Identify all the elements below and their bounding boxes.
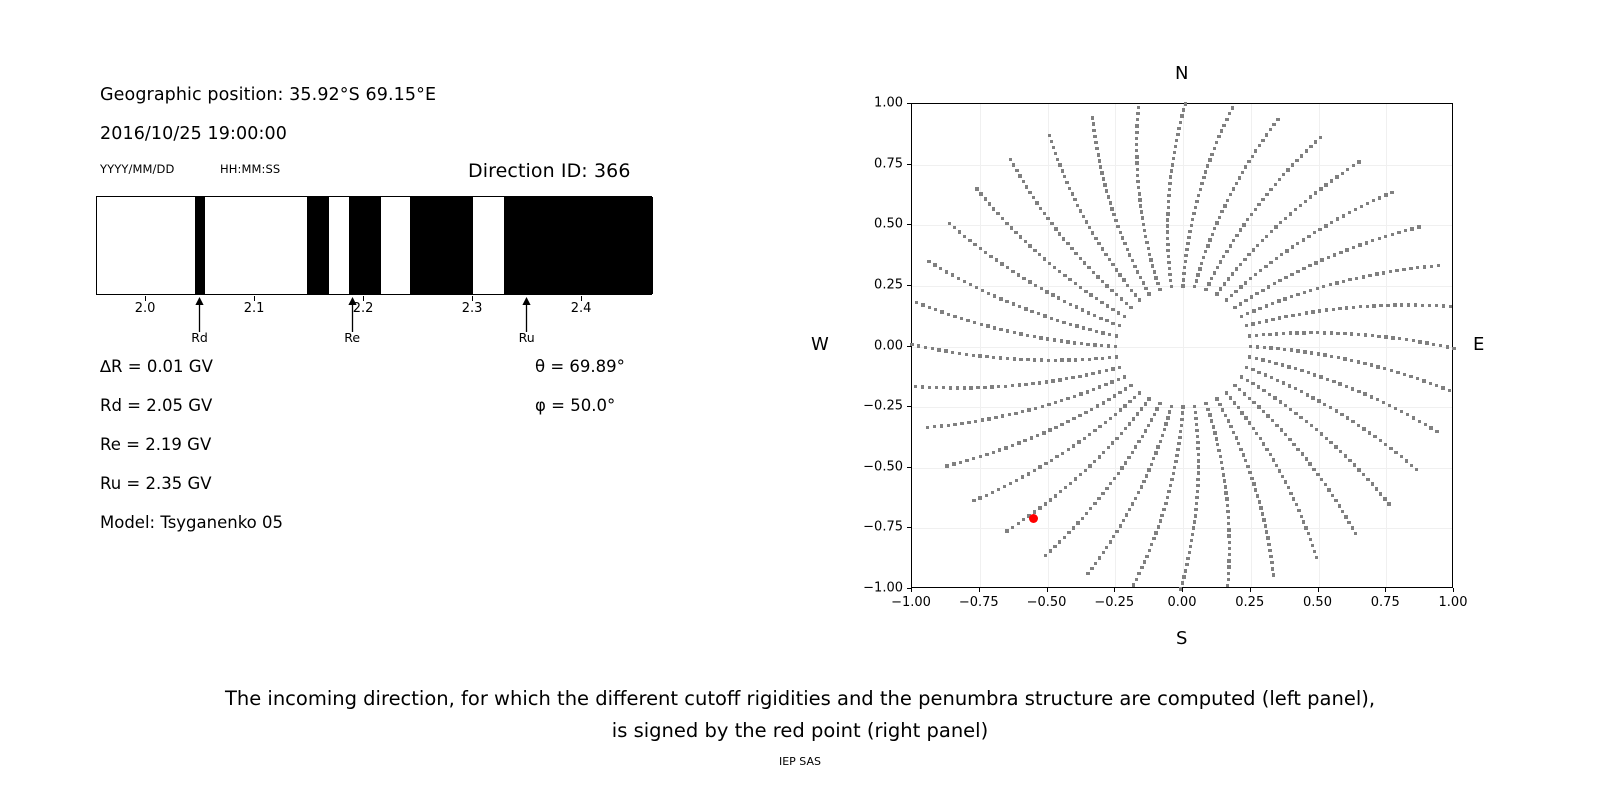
direction-dot <box>1296 270 1299 273</box>
direction-dot <box>976 386 979 389</box>
direction-dot <box>1169 484 1172 487</box>
direction-dot <box>1136 118 1139 121</box>
direction-dot <box>1123 404 1126 407</box>
direction-dot <box>1271 419 1274 422</box>
direction-dot <box>1087 311 1090 314</box>
direction-dot <box>1169 279 1172 282</box>
direction-dot <box>1335 409 1338 412</box>
direction-dot <box>1274 362 1277 365</box>
direction-dot <box>1370 395 1373 398</box>
direction-dot <box>1072 417 1075 420</box>
direction-dot <box>1054 401 1057 404</box>
direction-dot <box>1240 411 1243 414</box>
direction-dot <box>1102 451 1105 454</box>
direction-dot <box>1118 324 1121 327</box>
direction-dot <box>1095 297 1098 300</box>
direction-dot <box>1251 368 1254 371</box>
direction-dot <box>1156 445 1159 448</box>
direction-dot <box>1352 306 1355 309</box>
y-axis-tick-label: −1.00 <box>849 581 903 596</box>
direction-dot <box>1117 311 1120 314</box>
direction-dot <box>1123 242 1126 245</box>
direction-dot <box>1215 437 1218 440</box>
direction-dot <box>1376 365 1379 368</box>
direction-dot <box>1215 141 1218 144</box>
direction-dot <box>1082 326 1085 329</box>
direction-dot <box>1264 265 1267 268</box>
direction-dot <box>1088 328 1091 331</box>
direction-dot <box>1279 400 1282 403</box>
direction-dot <box>1210 277 1213 280</box>
direction-dot <box>1292 443 1295 446</box>
direction-dot <box>1226 584 1229 587</box>
direction-dot <box>1370 363 1373 366</box>
direction-dot <box>1113 394 1116 397</box>
direction-dot <box>1084 411 1087 414</box>
direction-dot <box>1322 285 1325 288</box>
direction-dot <box>1275 332 1278 335</box>
y-axis-tick <box>907 103 911 104</box>
direction-dot <box>965 353 968 356</box>
direction-dot <box>1218 216 1221 219</box>
direction-dot <box>1300 154 1303 157</box>
direction-dot <box>1181 581 1184 584</box>
direction-dot <box>1252 309 1255 312</box>
direction-dot <box>1150 418 1153 421</box>
direction-dot <box>1274 225 1277 228</box>
direction-dot <box>1316 473 1319 476</box>
direction-dot <box>1159 440 1162 443</box>
direction-dot <box>1107 446 1110 449</box>
direction-dot <box>1221 408 1224 411</box>
y-axis-tick-label: 1.00 <box>849 96 903 111</box>
direction-dot <box>1078 375 1081 378</box>
direction-dot <box>1224 485 1227 488</box>
direction-dot <box>1230 294 1233 297</box>
direction-dot <box>1096 275 1099 278</box>
direction-dot <box>1090 408 1093 411</box>
direction-dot <box>1167 261 1170 264</box>
direction-dot <box>1072 444 1075 447</box>
direction-dot <box>1246 379 1249 382</box>
direction-dot <box>1037 312 1040 315</box>
direction-dot <box>1320 478 1323 481</box>
direction-dot <box>1332 308 1335 311</box>
sky-map-panel: N S W E −1.00−0.75−0.50−0.250.000.250.50… <box>780 40 1540 660</box>
direction-dot <box>1348 278 1351 281</box>
direction-dot <box>1018 174 1021 177</box>
x-axis-tick-label: 0.25 <box>1235 595 1264 610</box>
rigidity-marker-re: Re <box>332 296 372 345</box>
direction-dot <box>1155 407 1158 410</box>
datetime-label: 2016/10/25 19:00:00 <box>100 124 287 144</box>
direction-dot <box>1017 522 1020 525</box>
direction-dot <box>972 499 975 502</box>
direction-dot <box>1183 266 1186 269</box>
direction-dot <box>1166 230 1169 233</box>
direction-dot <box>1428 304 1431 307</box>
direction-dot <box>1302 267 1305 270</box>
direction-dot <box>1261 289 1264 292</box>
direction-dot <box>1128 400 1131 403</box>
direction-dot <box>1386 304 1389 307</box>
direction-dot <box>921 303 924 306</box>
direction-dot <box>1111 308 1114 311</box>
direction-dot <box>1350 332 1353 335</box>
direction-dot <box>1313 231 1316 234</box>
direction-dot <box>1407 303 1410 306</box>
direction-dot <box>1064 486 1067 489</box>
direction-dot <box>1083 437 1086 440</box>
penumbra-axis: 2.02.12.22.32.4RdReRu <box>96 296 652 356</box>
direction-dot <box>1101 492 1104 495</box>
direction-dot <box>1319 375 1322 378</box>
direction-dot <box>1266 414 1269 417</box>
direction-dot <box>1371 239 1374 242</box>
x-axis-tick-label: 0.75 <box>1371 595 1400 610</box>
direction-dot <box>1100 301 1103 304</box>
direction-dot <box>1251 155 1254 158</box>
direction-dot <box>1039 207 1042 210</box>
direction-dot <box>1005 222 1008 225</box>
direction-dot <box>1219 260 1222 263</box>
direction-dot <box>1169 175 1172 178</box>
direction-dot <box>1417 225 1420 228</box>
direction-dot <box>1239 285 1242 288</box>
direction-dot <box>1238 176 1241 179</box>
direction-dot <box>1248 471 1251 474</box>
direction-dot <box>1019 358 1022 361</box>
direction-dot <box>940 310 943 313</box>
direction-dot <box>1184 254 1187 257</box>
direction-dot <box>1204 288 1207 291</box>
direction-dot <box>928 386 931 389</box>
direction-dot <box>1372 199 1375 202</box>
direction-dot <box>990 385 993 388</box>
direction-dot <box>985 453 988 456</box>
direction-dot <box>1202 256 1205 259</box>
direction-dot <box>1365 241 1368 244</box>
direction-dot <box>1300 515 1303 518</box>
y-axis-tick-label: −0.25 <box>849 399 903 414</box>
direction-dot <box>1030 436 1033 439</box>
direction-dot <box>1248 397 1251 400</box>
direction-dot <box>1153 413 1156 416</box>
direction-dot <box>1097 242 1100 245</box>
direction-dot <box>1323 331 1326 334</box>
x-axis-tick <box>1114 588 1115 592</box>
direction-dot <box>1232 431 1235 434</box>
direction-dot <box>1269 453 1272 456</box>
direction-dot <box>1296 242 1299 245</box>
direction-dot <box>1094 562 1097 565</box>
direction-dot <box>1019 235 1022 238</box>
direction-dot <box>1182 575 1185 578</box>
direction-dot <box>1390 191 1393 194</box>
direction-dot <box>1093 314 1096 317</box>
direction-dot <box>1333 253 1336 256</box>
direction-dot <box>1228 112 1231 115</box>
direction-dot <box>1308 462 1311 465</box>
direction-dot <box>1156 282 1159 285</box>
direction-dot <box>1101 331 1104 334</box>
direction-dot <box>1157 525 1160 528</box>
direction-dot <box>1168 182 1171 185</box>
compass-label-east: E <box>1473 334 1484 355</box>
direction-dot <box>1106 304 1109 307</box>
direction-dot <box>1005 529 1008 532</box>
direction-dot <box>1398 337 1401 340</box>
direction-dot <box>1202 176 1205 179</box>
direction-dot <box>1135 155 1138 158</box>
direction-dot <box>1182 272 1185 275</box>
direction-dot <box>1075 305 1078 308</box>
direction-dot <box>1063 536 1066 539</box>
direction-dot <box>975 286 978 289</box>
direction-dot <box>1063 175 1066 178</box>
direction-dot <box>1256 494 1259 497</box>
direction-dot <box>1305 149 1308 152</box>
direction-dot <box>1193 285 1196 288</box>
direction-dot <box>1145 474 1148 477</box>
direction-dot <box>995 258 998 261</box>
direction-dot <box>975 187 978 190</box>
direction-dot <box>1148 253 1151 256</box>
direction-dot <box>994 416 997 419</box>
direction-dot <box>1219 455 1222 458</box>
direction-dot <box>1416 266 1419 269</box>
direction-dot <box>1287 486 1290 489</box>
direction-dot <box>1038 253 1041 256</box>
direction-dot <box>1038 465 1041 468</box>
direction-dot <box>1166 237 1169 240</box>
geographic-position-label: Geographic position: 35.92°S 69.15°E <box>100 85 436 105</box>
direction-dot <box>1391 336 1394 339</box>
direction-dot <box>1325 437 1328 440</box>
direction-dot <box>1395 269 1398 272</box>
angle-parameter-row: θ = 69.89° <box>535 357 625 376</box>
selected-direction-marker[interactable] <box>1029 514 1038 523</box>
direction-dot <box>1342 280 1345 283</box>
direction-dot <box>1206 164 1209 167</box>
direction-dot <box>1181 411 1184 414</box>
direction-dot <box>1216 443 1219 446</box>
direction-dot <box>1093 429 1096 432</box>
direction-dot <box>1229 425 1232 428</box>
direction-dot <box>1283 348 1286 351</box>
direction-dot <box>999 328 1002 331</box>
direction-dot <box>1286 168 1289 171</box>
direction-dot <box>997 385 1000 388</box>
direction-dot <box>1095 330 1098 333</box>
direction-dot <box>1046 337 1049 340</box>
direction-dot <box>1019 332 1022 335</box>
direction-dot <box>1196 484 1199 487</box>
direction-dot <box>1074 252 1077 255</box>
direction-dot <box>1166 496 1169 499</box>
direction-dot <box>1384 193 1387 196</box>
direction-dot <box>1098 370 1101 373</box>
direction-dot <box>1292 497 1295 500</box>
direction-dot <box>984 197 987 200</box>
direction-dot <box>1229 244 1232 247</box>
direction-dot <box>1400 303 1403 306</box>
direction-dot <box>1227 522 1230 525</box>
direction-dot <box>1133 396 1136 399</box>
direction-dot <box>1409 375 1412 378</box>
direction-dot <box>1269 346 1272 349</box>
direction-dot <box>1354 208 1357 211</box>
direction-dot <box>1105 284 1108 287</box>
direction-dot <box>1375 487 1378 490</box>
direction-dot <box>1304 200 1307 203</box>
direction-dot <box>1141 216 1144 219</box>
direction-dot <box>1089 507 1092 510</box>
direction-dot <box>1152 457 1155 460</box>
direction-dot <box>1196 441 1199 444</box>
direction-dot <box>1101 247 1104 250</box>
left-panel: Geographic position: 35.92°S 69.15°E 201… <box>0 0 720 620</box>
direction-dot <box>1112 213 1115 216</box>
direction-dot <box>1394 451 1397 454</box>
direction-dot <box>965 459 968 462</box>
direction-dot <box>1074 282 1077 285</box>
direction-dot <box>1373 435 1376 438</box>
direction-dot <box>1012 302 1015 305</box>
direction-dot <box>1062 237 1065 240</box>
y-axis-tick <box>907 164 911 165</box>
direction-dot <box>1329 283 1332 286</box>
direction-dot <box>963 235 966 238</box>
direction-dot <box>1144 402 1147 405</box>
direction-dot <box>1177 442 1180 445</box>
direction-dot <box>1324 224 1327 227</box>
direction-dot <box>981 418 984 421</box>
direction-dot <box>1294 208 1297 211</box>
direction-dot <box>1254 488 1257 491</box>
direction-dot <box>1140 407 1143 410</box>
direction-dot <box>1225 497 1228 500</box>
direction-dot <box>1446 345 1449 348</box>
direction-dot <box>1170 478 1173 481</box>
direction-dot <box>1193 405 1196 408</box>
direction-dot <box>939 267 942 270</box>
gridline-vertical <box>980 104 981 587</box>
direction-dot <box>1357 468 1360 471</box>
direction-dot <box>1119 524 1122 527</box>
direction-dot <box>1229 396 1232 399</box>
direction-dot <box>1267 285 1270 288</box>
direction-dot <box>1276 118 1279 121</box>
parameter-row: Model: Tsyganenko 05 <box>100 513 283 532</box>
direction-dot <box>1014 412 1017 415</box>
direction-dot <box>949 386 952 389</box>
direction-dot <box>1138 391 1141 394</box>
direction-dot <box>1326 378 1329 381</box>
direction-dot <box>993 326 996 329</box>
direction-dot <box>960 422 963 425</box>
direction-dot <box>1052 146 1055 149</box>
direction-dot <box>1258 307 1261 310</box>
direction-dot <box>1366 478 1369 481</box>
direction-dot <box>1307 371 1310 374</box>
direction-dot <box>989 255 992 258</box>
direction-dot <box>1163 428 1166 431</box>
direction-dot <box>1251 322 1254 325</box>
direction-dot <box>1252 248 1255 251</box>
direction-dot <box>1219 287 1222 290</box>
direction-dot <box>1348 459 1351 462</box>
x-axis-tick-label: 0.50 <box>1303 595 1332 610</box>
direction-dot <box>1270 230 1273 233</box>
direction-dot <box>999 297 1002 300</box>
direction-dot <box>953 315 956 318</box>
direction-dot <box>1184 102 1187 105</box>
direction-dot <box>1180 424 1183 427</box>
direction-dot <box>1072 526 1075 529</box>
direction-dot <box>1060 358 1063 361</box>
direction-dot <box>1223 204 1226 207</box>
direction-dot <box>937 348 940 351</box>
direction-dot <box>1130 289 1133 292</box>
direction-dot <box>1250 477 1253 480</box>
direction-dot <box>1271 302 1274 305</box>
direction-dot <box>1291 245 1294 248</box>
direction-dot <box>1416 377 1419 380</box>
axis-tick-label: 2.0 <box>135 301 156 316</box>
direction-dot <box>1128 253 1131 256</box>
direction-dot <box>999 356 1002 359</box>
direction-dot <box>978 354 981 357</box>
direction-dot <box>1342 214 1345 217</box>
direction-dot <box>1168 267 1171 270</box>
direction-dot <box>1195 429 1198 432</box>
direction-dot <box>1449 305 1452 308</box>
direction-dot <box>1354 532 1357 535</box>
direction-dot <box>1000 262 1003 265</box>
direction-dot <box>1115 334 1118 337</box>
direction-dot <box>1264 524 1267 527</box>
direction-dot <box>1339 450 1342 453</box>
direction-dot <box>1400 410 1403 413</box>
direction-dot <box>1054 494 1057 497</box>
direction-dot <box>1439 344 1442 347</box>
direction-dot <box>1324 483 1327 486</box>
direction-dot <box>1142 281 1145 284</box>
direction-dot <box>1184 569 1187 572</box>
direction-dot <box>1273 282 1276 285</box>
direction-dot <box>985 355 988 358</box>
direction-dot <box>1073 341 1076 344</box>
direction-dot <box>1117 472 1120 475</box>
x-axis-tick <box>979 588 980 592</box>
direction-dot <box>1366 202 1369 205</box>
direction-dot <box>1048 134 1051 137</box>
direction-dot <box>1111 322 1114 325</box>
direction-dot <box>1197 471 1200 474</box>
direction-dot <box>1215 292 1218 295</box>
direction-dot <box>987 417 990 420</box>
direction-dot <box>1068 187 1071 190</box>
direction-dot <box>1222 473 1225 476</box>
direction-dot <box>1278 469 1281 472</box>
direction-dot <box>1244 281 1247 284</box>
direction-dot <box>1051 379 1054 382</box>
direction-dot <box>1015 479 1018 482</box>
direction-dot <box>1115 437 1118 440</box>
direction-dot <box>1108 258 1111 261</box>
direction-dot <box>1006 357 1009 360</box>
